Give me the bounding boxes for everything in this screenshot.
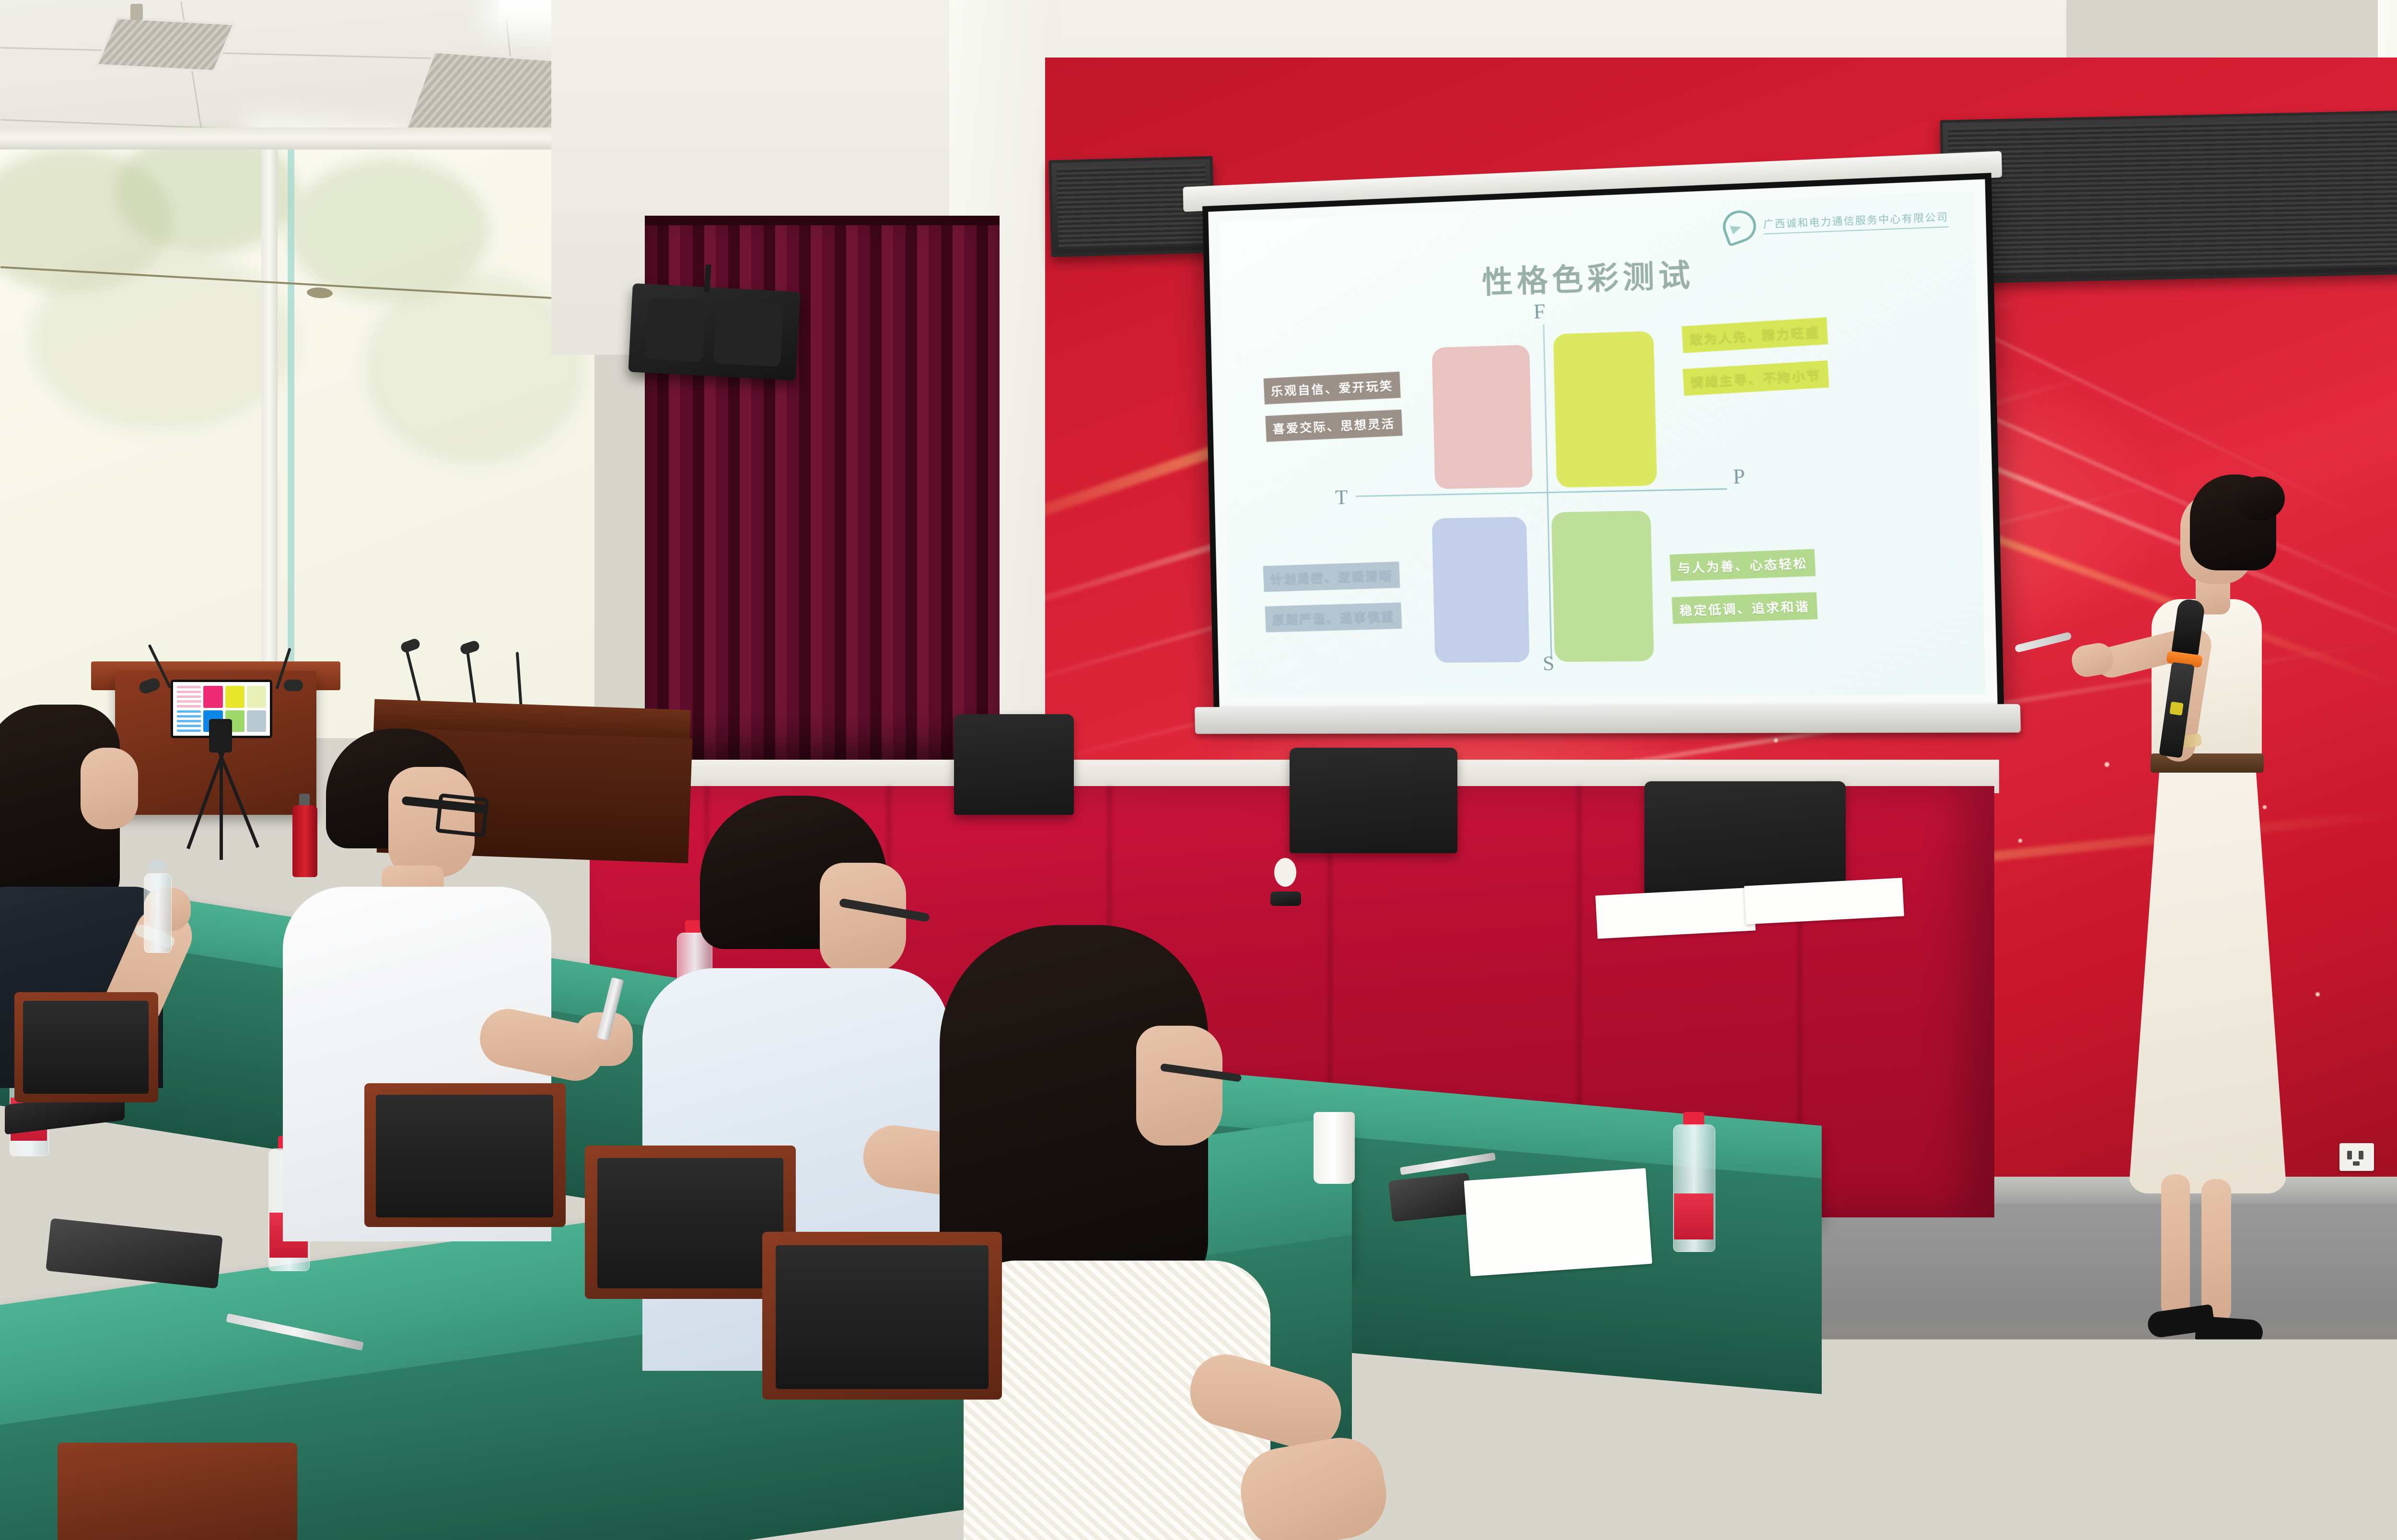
sprinkler-head [130, 4, 143, 20]
wooden-chair[interactable] [14, 992, 168, 1261]
presenter-hair-bun [2235, 476, 2285, 521]
chair-back [58, 1443, 297, 1540]
presenter-leg [2161, 1174, 2190, 1318]
attendee-face [820, 863, 906, 973]
chair-back-pad [376, 1095, 553, 1217]
table-microphone-base [1270, 892, 1301, 906]
ceiling-speaker [628, 283, 800, 381]
eyeglasses-lens [435, 793, 489, 837]
pm-cell [247, 686, 266, 708]
chair-back-pad [776, 1245, 989, 1389]
attendee-face [81, 748, 138, 829]
window-glass-edge [288, 129, 294, 738]
bottle-cap [150, 861, 164, 871]
pm-cell [247, 710, 266, 732]
quadrant-box-top-left [1432, 345, 1533, 489]
quadrant-label: 稳定低调、追求和谐 [1672, 592, 1818, 624]
slide-content: 广西诚和电力通信服务中心有限公司 性格色彩测试 F T P S 乐观自信、 [1219, 191, 1986, 698]
bottle-body [144, 873, 172, 953]
paper-sheet [1464, 1168, 1652, 1276]
wooden-chair[interactable] [364, 1083, 575, 1419]
axis-label-t: T [1335, 486, 1348, 509]
screen-surface: 广西诚和电力通信服务中心有限公司 性格色彩测试 F T P S 乐观自信、 [1202, 173, 2004, 715]
chair-back-pad [597, 1158, 783, 1288]
presenter-shoe [2195, 1316, 2263, 1346]
axis-label-s: S [1542, 652, 1555, 676]
water-bottle[interactable] [1673, 1112, 1714, 1251]
presenter-leg [2201, 1179, 2231, 1323]
tripod-leg [220, 750, 223, 860]
quadrant-label: 原则严谨、遇事慎重 [1265, 602, 1402, 632]
window-wall [0, 129, 594, 738]
pm-cell [225, 686, 244, 708]
wooden-chair[interactable] [762, 1232, 1012, 1540]
chair-back-pad [23, 1001, 149, 1094]
mic-button[interactable] [2169, 702, 2183, 716]
quadrant-label: 计划周密、逻辑清晰 [1263, 562, 1400, 592]
axis-label-p: P [1733, 465, 1745, 489]
axis-label-f: F [1533, 300, 1546, 324]
quadrant-box-bottom-left [1432, 517, 1530, 663]
head-table-chair[interactable] [1290, 748, 1457, 853]
projection-screen: 广西诚和电力通信服务中心有限公司 性格色彩测试 F T P S 乐观自信、 [1202, 173, 2004, 715]
water-bottle[interactable] [144, 861, 171, 952]
gooseneck-mic-capsule [284, 680, 303, 691]
wooden-chair[interactable] [2392, 877, 2397, 1390]
conference-room-scene: 2025 年 06 月 16 星期一 15:55:18 广西诚和电力通信服务中心… [0, 0, 2397, 1540]
screen-bottom-bar [1195, 704, 2021, 734]
air-vent [95, 17, 236, 73]
presenter [2076, 455, 2383, 1414]
horizontal-axis [1356, 488, 1727, 497]
head-table-chair[interactable] [1644, 781, 1846, 896]
attendee-face [1136, 1026, 1222, 1146]
table-microphone-head [1274, 858, 1296, 887]
quadrant-box-bottom-right [1551, 510, 1654, 662]
wooden-chair[interactable] [58, 1443, 307, 1540]
bottle-label [1674, 1193, 1714, 1239]
quadrant-label: 与人为善、心态轻松 [1670, 549, 1816, 581]
quadrant-box-top-right [1553, 331, 1657, 487]
window-mullion [261, 129, 278, 738]
paper-sheet [1595, 887, 1756, 938]
window-mullion [0, 127, 594, 150]
projector-housing [1940, 110, 2397, 284]
